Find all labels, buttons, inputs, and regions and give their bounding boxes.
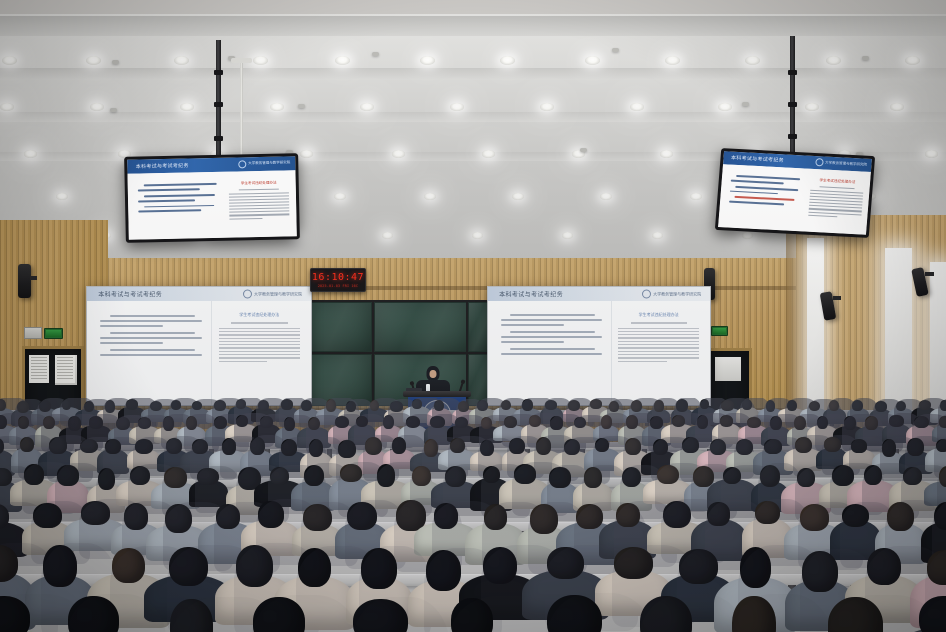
audience-member-head <box>236 399 246 409</box>
ceiling-downlight <box>253 56 268 65</box>
posted-notice <box>29 355 49 383</box>
audience-member-head <box>787 400 797 412</box>
audience-member-head <box>236 415 248 427</box>
audience-member-head <box>842 504 870 527</box>
institution-name: 大学教务管理与教学研究院 <box>653 291 701 297</box>
audience-member-head <box>720 415 734 427</box>
ceiling-downlight <box>660 150 673 158</box>
audience-member-head <box>426 550 461 591</box>
audience-member-head <box>390 401 403 412</box>
audience-member-head <box>169 547 208 586</box>
ceiling-downlight <box>500 56 515 65</box>
audience-member-head <box>84 401 94 413</box>
audience-member-head <box>284 417 295 431</box>
audience-member-head <box>216 504 240 529</box>
audience-member-head <box>18 416 30 429</box>
wall-speaker <box>18 264 31 298</box>
ceiling-sensor <box>742 102 749 106</box>
audience-member-head <box>250 437 265 455</box>
audience-member-head <box>222 438 236 455</box>
audience-member-head <box>867 548 901 585</box>
slide-title: 本科考试与考试考纪务 <box>98 290 162 299</box>
audience-member-head <box>483 466 501 483</box>
audience-member-head <box>105 439 121 454</box>
audience-member-head <box>335 416 350 428</box>
lectern-desktop <box>403 391 471 397</box>
audience-member-head <box>574 417 585 429</box>
audience-member-head <box>98 468 115 490</box>
wall-speaker-bracket <box>30 276 37 280</box>
audience-member-head <box>24 464 44 484</box>
slide-body: 学生考试违纪处理办法 <box>87 301 311 405</box>
audience-member-head <box>795 437 812 454</box>
audience-member-head <box>17 401 29 413</box>
ceiling-sensor <box>862 56 869 60</box>
audience-member-head <box>875 401 887 412</box>
audience-member-head <box>770 416 782 431</box>
audience-member-head <box>326 399 336 411</box>
ceiling-downlight <box>742 232 753 239</box>
audience-member-head <box>197 468 219 486</box>
ceiling-downlight <box>56 193 68 200</box>
audience-member-head <box>550 416 563 429</box>
audience-member-head <box>852 400 863 411</box>
audience-member-head <box>802 551 838 592</box>
audience-member-head <box>43 545 77 587</box>
institution-name: 大学教务管理与教学研究院 <box>254 291 302 297</box>
audience-member-head <box>887 502 914 531</box>
audience-member-head <box>434 503 458 528</box>
institution-logo: 大学教务管理与教学研究院 <box>243 290 302 299</box>
audience-member-head <box>529 415 541 427</box>
audience-member-head <box>445 466 466 487</box>
audience-member-head <box>89 416 104 429</box>
projection-screen-center: 本科考试与考试考纪务 大学教务管理与教学研究院 学生考试违纪处理办法 <box>487 286 711 406</box>
ceiling-downlight <box>805 103 819 111</box>
audience-member-head <box>304 465 324 486</box>
slide-body: 学生考试违纪处理办法 <box>488 301 710 405</box>
slide-right-column: 学生考试违纪处理办法 <box>211 301 311 405</box>
ceiling-downlight <box>482 150 495 158</box>
audience-member-head <box>832 465 854 486</box>
audience-member-head <box>914 416 929 429</box>
audience-member-head <box>889 415 903 427</box>
audience-member-head <box>270 467 289 485</box>
ceiling-downlight <box>24 150 37 158</box>
slide-right-title: 学生考试违纪处理办法 <box>219 312 300 318</box>
ceiling-downlight <box>86 56 101 65</box>
audience-member-head <box>672 415 686 427</box>
audience-member-head <box>679 549 718 584</box>
ceiling-sensor <box>110 108 117 112</box>
ceiling-downlight <box>718 103 732 111</box>
audience-member-head <box>736 439 753 455</box>
audience-member-head <box>817 416 828 429</box>
ceiling-downlight <box>334 193 346 200</box>
ceiling-downlight <box>270 103 284 111</box>
monitor-suspension-pole <box>216 40 221 168</box>
ceiling-beam <box>0 112 946 122</box>
audience-member-head <box>165 504 192 534</box>
audience-member-head <box>522 399 533 411</box>
audience-member-head <box>940 400 946 411</box>
audience-member-head <box>760 465 781 487</box>
audience-member-head <box>298 548 332 588</box>
ceiling-downlight <box>420 56 435 65</box>
audience-member-head <box>186 416 197 430</box>
monitor-right-column: 学生考试违纪处理办法 <box>802 169 871 235</box>
audience-member-head <box>80 439 98 454</box>
audience-member-head <box>392 437 407 454</box>
audience-member-head <box>547 547 584 579</box>
audience-member-head <box>616 503 640 527</box>
ceiling-downlight <box>2 56 17 65</box>
institution-logo: 大学教务管理与教学研究院 <box>815 158 868 169</box>
slide-header-bar: 本科考试与考试考纪务 大学教务管理与教学研究院 <box>87 287 311 302</box>
audience-member-head <box>723 467 742 484</box>
wall-speaker-bracket <box>925 272 934 276</box>
audience-member-head <box>707 502 729 525</box>
audience-member-head <box>150 401 162 412</box>
audience-member-head <box>308 417 320 431</box>
audience-member-head <box>20 437 34 453</box>
audience-member-head <box>865 416 878 430</box>
slide-header-bar: 本科考试与考试考纪务 大学教务管理与教学研究院 <box>488 287 710 302</box>
audience-member-head <box>340 464 362 482</box>
audience-member-head <box>903 467 922 485</box>
audience-member-head <box>258 400 269 411</box>
ceiling-sensor <box>580 148 587 152</box>
audience-member-head <box>829 400 839 411</box>
audience-member-head <box>514 464 536 483</box>
audience-member-head <box>455 417 468 428</box>
audience-member-head <box>663 501 691 529</box>
monitor-slide-title: 本科考试与考试考纪务 <box>136 162 189 170</box>
ceiling-downlight <box>472 232 483 239</box>
monitor-right-column: 学生考试违纪处理办法 <box>223 170 297 238</box>
audience-member-head <box>622 467 642 488</box>
monitor-screen: 本科考试与考试考纪务 大学教务管理与教学研究院 学生考试违纪处理办法 <box>718 151 872 235</box>
ceiling-downlight <box>890 103 904 111</box>
audience-member-head <box>481 417 492 429</box>
audience-member-head <box>483 547 518 585</box>
audience-member-head <box>657 465 679 485</box>
audience-member-head <box>682 437 699 453</box>
audience-member-head <box>347 502 377 531</box>
monitor-slide-title: 本科考试与考试考纪务 <box>731 155 785 165</box>
ceiling-sensor <box>298 104 305 108</box>
audience-member-head <box>126 399 138 410</box>
audience-member-head <box>809 401 820 412</box>
ceiling-edge <box>0 0 946 14</box>
ceiling-downlight <box>562 232 573 239</box>
audience-member-head <box>62 399 71 410</box>
ceiling-downlight <box>630 103 644 111</box>
ceiling-downlight <box>512 193 524 200</box>
audience-member-head <box>755 501 780 524</box>
audience-member-head <box>365 437 383 455</box>
audience-member-head <box>568 400 581 411</box>
audience-member-head <box>851 439 867 453</box>
audience-member-head <box>653 439 668 455</box>
audience-member-head <box>138 417 151 429</box>
monitor-screen: 本科考试与考试考纪务 大学教务管理与教学研究院 学生考试违纪处理办法 <box>127 156 297 240</box>
audience-member-head <box>130 466 151 485</box>
audience-member-head <box>797 468 815 487</box>
audience-member-head <box>484 504 507 530</box>
monitor-left-column <box>718 164 807 231</box>
thin-ceiling-pole <box>240 58 243 168</box>
monitor-slide-body: 学生考试违纪处理办法 <box>718 164 871 235</box>
audience-member-head <box>864 465 882 486</box>
audience-member-head <box>164 467 187 488</box>
audience-member-head <box>430 416 444 428</box>
monitor-left-column <box>127 171 224 239</box>
audience-member-head <box>601 415 612 429</box>
monitor-right-title: 学生考试违纪处理办法 <box>811 178 865 186</box>
clock-time: 16:10:47 <box>312 273 364 283</box>
audience-member-head <box>450 438 465 453</box>
exit-sign <box>711 326 728 336</box>
audience-member-head <box>116 417 130 431</box>
exit-sign <box>44 328 63 339</box>
audience-member-head <box>939 416 946 428</box>
monitor-suspension-pole <box>790 36 795 162</box>
monitor-slide-body: 学生考试违纪处理办法 <box>127 170 296 240</box>
audience-member-head <box>740 547 772 589</box>
audience-member-head <box>504 416 517 429</box>
audience-member-head <box>584 467 602 488</box>
audience-member-head <box>451 598 493 632</box>
audience-member-head <box>356 416 368 428</box>
audience-member-head <box>214 416 228 429</box>
ceiling-downlight <box>540 103 554 111</box>
slide-title: 本科考试与考试考纪务 <box>499 290 563 299</box>
audience-member-head <box>614 547 653 579</box>
ceiling-downlight <box>174 56 189 65</box>
ceiling-downlight <box>180 103 194 111</box>
blackboard <box>374 302 472 352</box>
ceiling-downlight <box>335 56 350 65</box>
audience-member-head <box>377 464 395 487</box>
audience-member-head <box>166 438 183 454</box>
audience-member-head <box>501 400 511 411</box>
ceiling-downlight <box>0 103 14 111</box>
ceiling-downlight <box>600 193 612 200</box>
audience-member-head <box>361 548 397 589</box>
university-seal-icon <box>243 290 252 299</box>
audience-member-head <box>536 437 551 455</box>
ceiling-downlight <box>925 150 938 158</box>
audience-member-head <box>721 400 734 411</box>
audience-member-head <box>676 399 688 412</box>
ceiling-downlight <box>690 193 702 200</box>
ceiling-downlight <box>360 103 374 111</box>
slide-left-column <box>87 301 211 405</box>
audience-member-head <box>303 504 332 531</box>
audience-member-head <box>434 400 444 411</box>
audience-member-head <box>766 400 776 412</box>
ceiling-downlight <box>665 56 680 65</box>
audience-member-head <box>919 400 931 410</box>
audience-member-head <box>747 417 761 428</box>
clock-date: 2025-01-03 FRI 16C <box>318 284 358 288</box>
audience-member-head <box>710 439 726 455</box>
audience-member-head <box>412 399 422 409</box>
audience-member-head <box>609 401 619 412</box>
institution-logo: 大学教务管理与教学研究院 <box>238 159 290 168</box>
presenter-face <box>430 370 437 378</box>
posted-notice <box>55 355 75 383</box>
university-seal-icon <box>815 158 824 166</box>
audience-member-head <box>236 545 273 586</box>
audience-member-head <box>424 439 438 456</box>
ceiling-downlight <box>905 56 920 65</box>
audience-member-head <box>43 416 56 429</box>
audience-member-head <box>33 503 62 528</box>
audience-member-head <box>338 440 356 458</box>
audience-member-head <box>81 501 110 524</box>
audience-member-head <box>39 400 52 412</box>
ceiling-downlight <box>826 56 841 65</box>
audience-member-head <box>800 504 829 531</box>
ceiling-downlight <box>90 103 104 111</box>
audience-seating-area <box>0 398 946 632</box>
audience-member-head <box>135 439 153 454</box>
audience-member-head <box>631 400 642 412</box>
audience-member-head <box>458 401 469 412</box>
overhead-monitor-right: 本科考试与考试考纪务 大学教务管理与教学研究院 学生考试违纪处理办法 <box>715 148 875 238</box>
audience-member-head <box>281 439 297 456</box>
audience-member-head <box>258 501 284 528</box>
audience-member-head <box>260 416 272 428</box>
audience-member-head <box>939 466 946 488</box>
audience-member-head <box>844 416 855 430</box>
monitor-right-title: 学生考试违纪处理办法 <box>228 180 289 186</box>
ceiling-downlight <box>585 56 600 65</box>
projection-screen-left: 本科考试与考试考纪务 大学教务管理与教学研究院 学生考试违纪处理办法 <box>86 286 312 406</box>
audience-member-head <box>590 399 602 408</box>
audience-member-head <box>576 504 603 529</box>
audience-member-head <box>509 438 524 454</box>
ceiling-beam <box>0 16 946 36</box>
ceiling-downlight <box>392 150 405 158</box>
audience-member-head <box>625 438 641 455</box>
institution-name: 大学教务管理与教学研究院 <box>825 161 867 168</box>
audience-member-head <box>214 400 226 411</box>
audience-member-head <box>281 399 293 410</box>
institution-name: 大学教务管理与教学研究院 <box>248 161 290 167</box>
audience-member-head <box>192 439 208 455</box>
slide-right-column: 学生考试违纪处理办法 <box>611 301 710 405</box>
lecture-hall-photo: 本科考试与考试考纪务 大学教务管理与教学研究院 学生考试违纪处理办法 <box>0 0 946 632</box>
audience-member-head <box>700 399 710 409</box>
audience-member-head <box>253 597 305 632</box>
audience-member-head <box>124 503 148 530</box>
audience-member-head <box>936 439 946 453</box>
institution-logo: 大学教务管理与教学研究院 <box>642 290 701 299</box>
audience-member-head <box>896 401 906 412</box>
overhead-monitor-left: 本科考试与考试考纪务 大学教务管理与教学研究院 学生考试违纪处理办法 <box>124 153 300 243</box>
ceiling-sensor <box>612 48 619 52</box>
light-switch-panel[interactable] <box>24 327 42 339</box>
audience-member-head <box>163 416 174 430</box>
audience-member-head <box>49 437 67 454</box>
audience-member-head <box>105 400 115 412</box>
audience-member-head <box>650 416 663 429</box>
audience-member-head <box>530 504 558 534</box>
audience-member-head <box>309 439 324 457</box>
audience-member-head <box>68 416 82 431</box>
audience-member-head <box>545 400 557 410</box>
wall-speaker-bracket <box>833 296 841 300</box>
audience-member-head <box>697 415 708 429</box>
audience-member-head <box>412 466 431 486</box>
audience-member-head <box>907 438 923 456</box>
ceiling-sensor <box>372 52 379 56</box>
ceiling-downlight <box>450 103 464 111</box>
university-seal-icon <box>238 160 246 168</box>
audience-member-head <box>882 439 896 457</box>
audience-member-head <box>346 401 356 412</box>
audience-member-head <box>595 438 609 452</box>
audience-member-head <box>301 400 312 411</box>
ceiling-beam <box>0 68 946 80</box>
ceiling-downlight <box>424 193 436 200</box>
audience-member-head <box>0 468 12 486</box>
ceiling-downlight <box>652 232 663 239</box>
audience-member-head <box>549 467 570 488</box>
led-wall-clock: 16:10:47 2025-01-03 FRI 16C <box>310 268 366 292</box>
audience-member-head <box>742 399 752 409</box>
audience-member-head <box>824 437 842 452</box>
audience-member-head <box>57 465 79 485</box>
audience-member-head <box>626 415 638 428</box>
audience-member-head <box>383 415 394 429</box>
slide-right-title: 学生考试违纪处理办法 <box>618 312 698 318</box>
ceiling-downlight <box>382 232 393 239</box>
slide-left-column <box>488 301 611 405</box>
audience-member-head <box>477 400 488 411</box>
audience-member-head <box>564 439 580 455</box>
ceiling-downlight <box>745 56 760 65</box>
audience-member-head <box>480 440 494 457</box>
audience-member-head <box>764 439 782 454</box>
university-seal-icon <box>642 290 651 299</box>
ceiling-downlight <box>300 150 313 158</box>
ceiling-sensor <box>112 60 119 64</box>
audience-member-head <box>654 400 664 412</box>
audience-member-head <box>68 596 119 632</box>
audience-member-head <box>112 548 145 584</box>
